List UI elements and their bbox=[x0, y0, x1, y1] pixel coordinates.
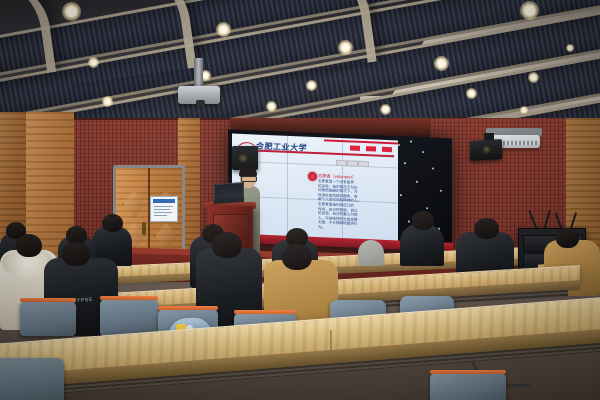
screen-sparkle bbox=[410, 140, 412, 142]
ceiling-downlight bbox=[566, 44, 574, 52]
door-handle[interactable] bbox=[142, 222, 146, 235]
screen-sparkle bbox=[432, 167, 434, 169]
sign-title-bar bbox=[153, 199, 175, 203]
sign-text-line bbox=[154, 215, 167, 216]
ceiling-downlight bbox=[520, 106, 528, 114]
ceiling-downlight bbox=[216, 22, 231, 37]
chair-trim bbox=[20, 298, 76, 302]
ceiling-downlight bbox=[528, 72, 539, 83]
speaker-cone bbox=[482, 145, 491, 154]
ceiling-downlight bbox=[380, 104, 391, 115]
screen-sparkle bbox=[426, 207, 428, 209]
student-head bbox=[282, 244, 312, 270]
screen-sparkle bbox=[408, 220, 410, 222]
lecture-chair[interactable] bbox=[0, 358, 64, 400]
lecture-hall-photo: 合肥工业大学 志愿者（volunteer） 志愿者是一个没有国界 的名称，指的是… bbox=[0, 0, 600, 400]
ceiling-downlight bbox=[466, 88, 477, 99]
slide-header-pill bbox=[336, 160, 347, 166]
ceiling-downlight bbox=[62, 2, 81, 21]
ceiling-downlight bbox=[306, 80, 317, 91]
screen-sparkle bbox=[416, 181, 418, 183]
student-head bbox=[212, 232, 242, 258]
slide-seal-icon bbox=[308, 172, 317, 181]
slide-accent-swatch bbox=[382, 147, 392, 152]
slide-header-pill bbox=[347, 160, 358, 166]
lecture-chair[interactable] bbox=[20, 300, 76, 336]
chair-trim bbox=[100, 296, 158, 300]
screen-sparkle bbox=[422, 151, 424, 153]
student-head bbox=[556, 228, 579, 248]
student-head bbox=[62, 242, 90, 266]
wall-speaker-right bbox=[470, 139, 502, 161]
slide-accent-line bbox=[324, 139, 398, 144]
screen-sparkle bbox=[404, 162, 406, 164]
ceiling-downlight bbox=[266, 101, 277, 112]
university-logo-text: 合肥工业大学 bbox=[255, 141, 307, 154]
ceiling-downlight bbox=[88, 57, 99, 68]
slide-accent-swatch bbox=[366, 146, 376, 151]
screen-sparkle bbox=[440, 190, 442, 192]
student-head bbox=[102, 214, 123, 232]
speaker-cone bbox=[238, 153, 248, 163]
student-head bbox=[474, 218, 499, 239]
ceiling-downlight bbox=[434, 56, 449, 71]
student-head bbox=[412, 211, 434, 230]
chair-trim bbox=[158, 306, 218, 310]
sign-text-line bbox=[154, 209, 170, 210]
chair-trim bbox=[430, 370, 506, 374]
slide-body-block: 志愿者（volunteer） 志愿者是一个没有国界 的名称，指的是在不为任 何物… bbox=[318, 173, 380, 232]
student-grey-hoodie bbox=[358, 240, 384, 266]
door-notice-sign bbox=[150, 196, 178, 222]
sign-text-line bbox=[154, 206, 173, 207]
lecture-chair[interactable] bbox=[430, 372, 506, 400]
ceiling-downlight bbox=[102, 96, 113, 107]
student-center-puffer bbox=[400, 224, 444, 266]
lecture-chair[interactable] bbox=[100, 298, 158, 336]
sign-text-line bbox=[154, 212, 172, 213]
ceiling-downlight bbox=[338, 40, 353, 55]
projector-lens bbox=[196, 100, 205, 106]
screen-sparkle bbox=[400, 194, 402, 196]
screen-sparkle bbox=[398, 144, 400, 146]
door-diamond-panel bbox=[155, 222, 177, 250]
slide-header-pill bbox=[358, 161, 369, 167]
student-head bbox=[16, 234, 42, 257]
ceiling-downlight bbox=[520, 1, 539, 20]
chair-trim bbox=[234, 310, 296, 314]
slide-accent-swatch bbox=[350, 145, 360, 150]
door-diamond-panel bbox=[123, 190, 145, 218]
